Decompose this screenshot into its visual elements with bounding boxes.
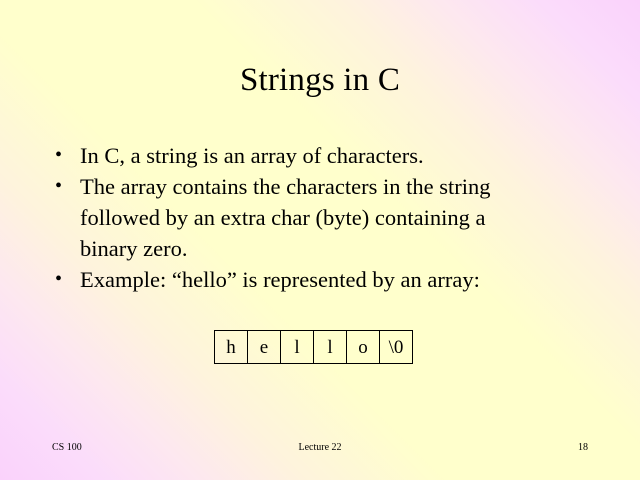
bullet-point-icon: •: [55, 264, 62, 295]
presentation-slide: Strings in C • In C, a string is an arra…: [0, 0, 640, 480]
bullet-point-icon: •: [55, 171, 62, 202]
slide-title: Strings in C: [0, 60, 640, 100]
bullet-item: • The array contains the characters in t…: [48, 171, 594, 264]
slide-body-bullet-list: • In C, a string is an array of characte…: [48, 140, 594, 295]
array-cell-5: \0: [380, 331, 413, 364]
array-cell-3: l: [314, 331, 347, 364]
bullet-line: The array contains the characters in the…: [80, 171, 594, 202]
array-cell-4: o: [347, 331, 380, 364]
character-array-diagram: h e l l o \0: [214, 330, 413, 364]
bullet-item: • In C, a string is an array of characte…: [48, 140, 594, 171]
array-cell-1: e: [248, 331, 281, 364]
bullet-line: Example: “hello” is represented by an ar…: [80, 264, 594, 295]
array-cell-0: h: [215, 331, 248, 364]
bullet-point-icon: •: [55, 140, 62, 171]
bullet-line: followed by an extra char (byte) contain…: [80, 202, 594, 233]
bullet-line: In C, a string is an array of characters…: [80, 140, 594, 171]
bullet-line: binary zero.: [80, 233, 594, 264]
bullet-item: • Example: “hello” is represented by an …: [48, 264, 594, 295]
array-cell-2: l: [281, 331, 314, 364]
table-row: h e l l o \0: [215, 331, 413, 364]
footer-slide-number: 18: [0, 441, 640, 454]
